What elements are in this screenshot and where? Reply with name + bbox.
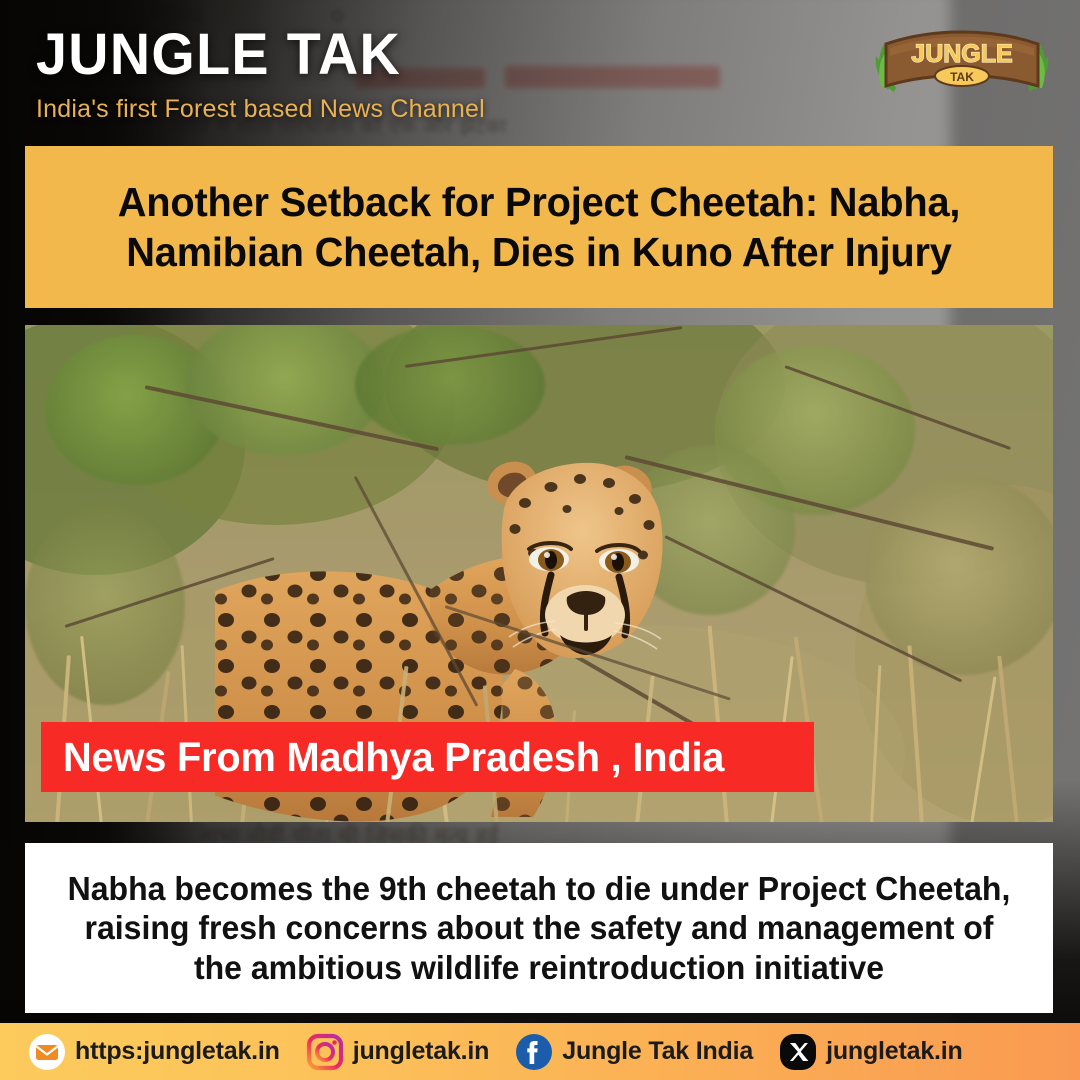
location-banner-text: News From Madhya Pradesh , India — [63, 734, 724, 781]
facebook-label: Jungle Tak India — [562, 1037, 753, 1066]
news-poster: विविध ० भारत में चीता परियोजना को एक और … — [0, 0, 1080, 1080]
jungle-tak-logo: JUNGLE TAK — [872, 18, 1052, 102]
instagram-icon — [306, 1033, 344, 1071]
channel-title: JUNGLE TAK — [36, 26, 708, 84]
headline-text: Another Setback for Project Cheetah: Nab… — [54, 177, 1024, 277]
svg-text:TAK: TAK — [950, 70, 974, 84]
website-label: https:jungletak.in — [75, 1037, 280, 1066]
headline-panel: Another Setback for Project Cheetah: Nab… — [25, 146, 1053, 308]
x-twitter-icon — [779, 1033, 817, 1071]
social-footer: https:jungletak.in jungle — [0, 1023, 1080, 1080]
brand-block: JUNGLE TAK India's first Forest based Ne… — [36, 26, 736, 124]
channel-tagline: India's first Forest based News Channel — [36, 95, 736, 124]
instagram-label: jungletak.in — [353, 1037, 490, 1066]
footer-item-instagram[interactable]: jungletak.in — [306, 1033, 490, 1071]
email-icon — [28, 1033, 66, 1071]
facebook-icon — [515, 1033, 553, 1071]
footer-item-facebook[interactable]: Jungle Tak India — [515, 1033, 753, 1071]
footer-item-x[interactable]: jungletak.in — [779, 1033, 963, 1071]
location-banner: News From Madhya Pradesh , India — [41, 722, 814, 792]
x-label: jungletak.in — [826, 1037, 963, 1066]
svg-text:JUNGLE: JUNGLE — [911, 40, 1012, 68]
footer-item-website[interactable]: https:jungletak.in — [28, 1033, 280, 1071]
caption-text: Nabha becomes the 9th cheetah to die und… — [64, 869, 1015, 988]
caption-panel: Nabha becomes the 9th cheetah to die und… — [25, 843, 1053, 1013]
